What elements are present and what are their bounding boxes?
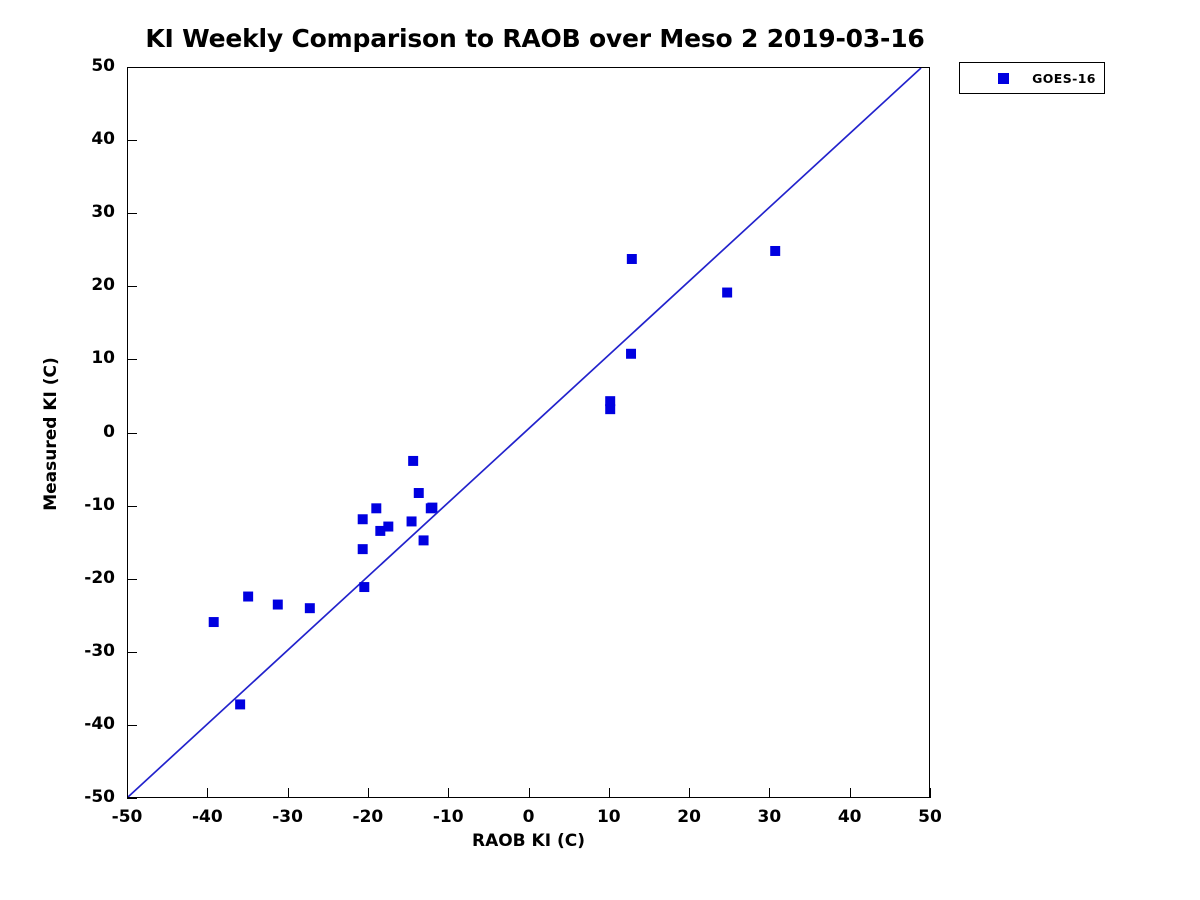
y-tick-mark [127,652,137,653]
data-point [358,544,368,554]
y-tick-label: -40 [55,714,115,734]
x-tick-label: -50 [97,807,157,827]
x-tick-mark [127,788,128,798]
y-tick-label: -30 [55,641,115,661]
x-tick-label: 30 [739,807,799,827]
y-tick-mark [127,506,137,507]
x-tick-label: -40 [177,807,237,827]
page-title: KI Weekly Comparison to RAOB over Meso 2… [0,24,1070,53]
y-tick-label: -10 [55,495,115,515]
data-point [407,516,417,526]
x-tick-mark [288,788,289,798]
data-point [605,396,615,406]
data-point [770,246,780,256]
x-tick-label: 10 [579,807,639,827]
y-tick-label: 30 [55,202,115,222]
x-tick-label: -20 [338,807,398,827]
y-tick-mark [127,798,137,799]
x-tick-mark [529,788,530,798]
y-tick-mark [127,359,137,360]
data-point-group [209,246,780,709]
chart-page: KI Weekly Comparison to RAOB over Meso 2… [0,0,1200,900]
data-point [235,699,245,709]
data-point [426,503,436,513]
data-point [273,600,283,610]
x-axis-title: RAOB KI (C) [127,831,930,851]
data-point [305,603,315,613]
data-point [627,254,637,264]
data-point [722,288,732,298]
x-tick-mark [850,788,851,798]
x-tick-label: -30 [258,807,318,827]
y-tick-mark [127,286,137,287]
legend: GOES-16 [959,62,1105,94]
legend-marker-goes-16 [998,73,1009,84]
y-tick-label: 0 [55,422,115,442]
x-tick-label: 20 [659,807,719,827]
x-tick-mark [448,788,449,798]
y-tick-mark [127,579,137,580]
scatter-data-layer [128,68,929,797]
x-tick-mark [609,788,610,798]
y-tick-label: -50 [55,787,115,807]
x-tick-mark [207,788,208,798]
legend-label-goes-16: GOES-16 [1030,71,1098,86]
x-tick-label: 0 [499,807,559,827]
data-point [358,514,368,524]
x-tick-mark [930,788,931,798]
data-point [209,617,219,627]
y-tick-mark [127,433,137,434]
y-tick-mark [127,213,137,214]
y-tick-mark [127,67,137,68]
x-tick-mark [769,788,770,798]
data-point [408,456,418,466]
y-tick-label: 10 [55,348,115,368]
y-axis-title: Measured KI (C) [41,354,61,514]
y-tick-mark [127,725,137,726]
y-tick-mark [127,140,137,141]
y-tick-label: 40 [55,129,115,149]
data-point [359,582,369,592]
data-point [383,522,393,532]
x-tick-mark [689,788,690,798]
data-point [427,503,437,513]
x-tick-label: 50 [900,807,960,827]
data-point [605,404,615,414]
x-tick-mark [368,788,369,798]
data-point [414,488,424,498]
data-point [371,503,381,513]
x-tick-label: -10 [418,807,478,827]
x-tick-label: 40 [820,807,880,827]
data-point [243,592,253,602]
plot-area [127,67,930,798]
y-tick-label: 50 [55,56,115,76]
data-point [419,535,429,545]
one-to-one-reference-line [128,68,921,797]
y-tick-label: -20 [55,568,115,588]
y-tick-label: 20 [55,275,115,295]
data-point [626,349,636,359]
data-point [375,526,385,536]
